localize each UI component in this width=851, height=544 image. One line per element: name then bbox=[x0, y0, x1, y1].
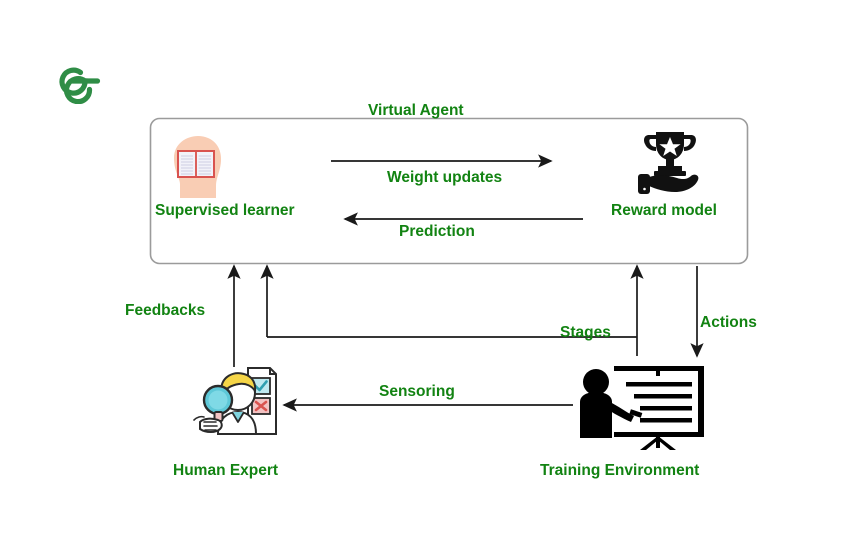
head-with-book-icon bbox=[160, 128, 232, 200]
connector-layer bbox=[0, 0, 851, 544]
weight-updates-label: Weight updates bbox=[387, 170, 502, 186]
sensoring-label: Sensoring bbox=[379, 384, 455, 400]
prediction-label: Prediction bbox=[399, 224, 475, 240]
training-environment-label: Training Environment bbox=[540, 463, 699, 479]
reward-model-label: Reward model bbox=[611, 203, 717, 219]
feedbacks-label: Feedbacks bbox=[125, 303, 205, 319]
presenter-whiteboard-icon bbox=[570, 358, 710, 450]
actions-label: Actions bbox=[700, 315, 757, 331]
human-expert-label: Human Expert bbox=[173, 463, 278, 479]
stages-label: Stages bbox=[560, 325, 611, 341]
diagram-canvas: Supervised learner Reward model bbox=[0, 0, 851, 544]
supervised-learner-label: Supervised learner bbox=[155, 203, 295, 219]
virtual-agent-title: Virtual Agent bbox=[368, 103, 464, 119]
expert-with-magnifier-icon bbox=[192, 360, 284, 444]
hand-holding-trophy-icon bbox=[630, 126, 710, 198]
